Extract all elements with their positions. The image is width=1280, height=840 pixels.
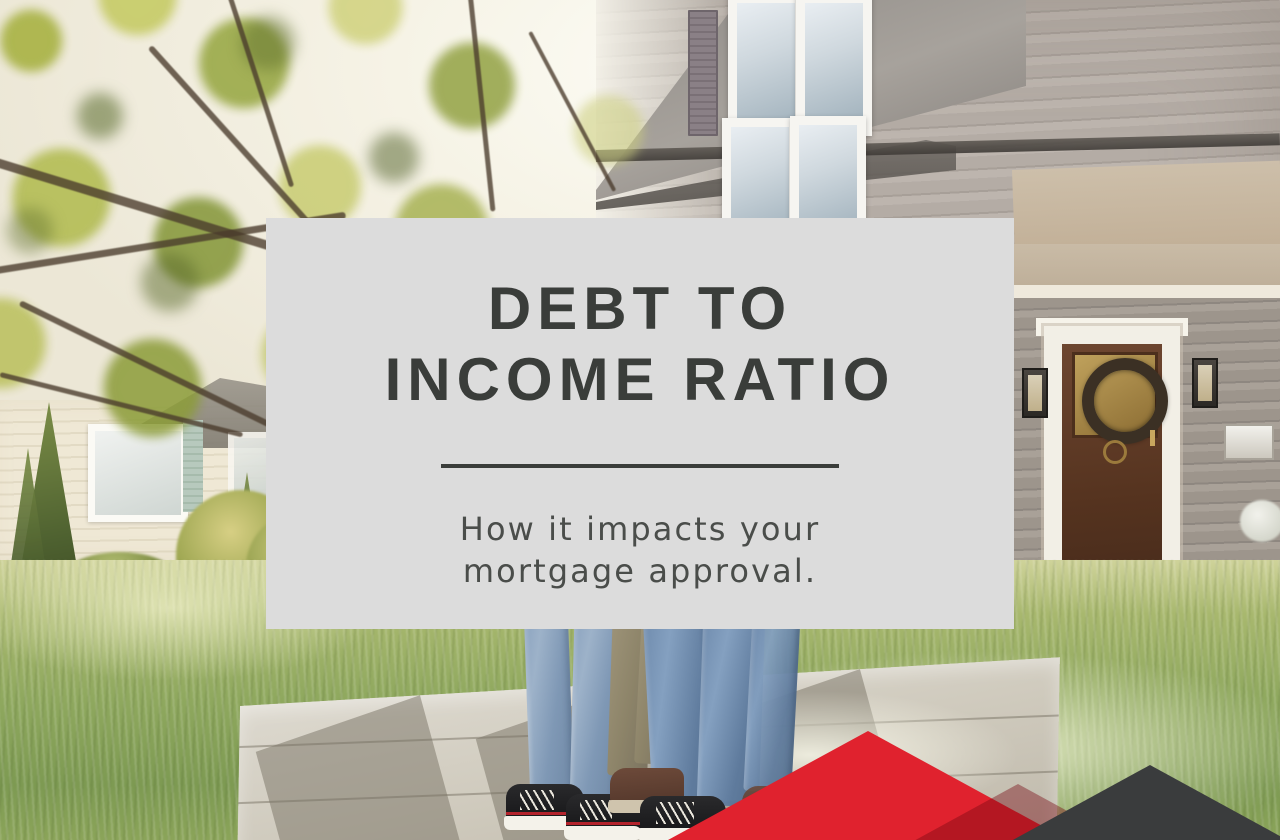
hero-banner: DEBT TO INCOME RATIO How it impacts your… — [0, 0, 1280, 840]
person-left-leg — [524, 615, 574, 792]
subtitle: How it impacts your mortgage approval. — [266, 508, 1014, 594]
wall-sconce-right — [1192, 358, 1218, 408]
door-handle — [1150, 430, 1155, 446]
dress-shoe-sole — [740, 812, 806, 824]
title-divider — [441, 464, 839, 468]
sneaker-red-stripe — [566, 822, 642, 825]
sneaker-sole — [638, 828, 726, 840]
door-knocker — [1103, 440, 1127, 464]
subtitle-line-2: mortgage approval. — [266, 550, 1014, 593]
sneaker-sole — [564, 826, 642, 840]
door-wreath — [1082, 358, 1168, 444]
porch-flower-pot — [1240, 500, 1280, 542]
subtitle-line-1: How it impacts your — [266, 508, 1014, 551]
mailbox — [1224, 424, 1274, 460]
headline-line-1: DEBT TO — [266, 274, 1014, 345]
headline-panel: DEBT TO INCOME RATIO How it impacts your… — [266, 218, 1014, 629]
paver-seam — [256, 695, 464, 840]
porch-trim — [1006, 285, 1280, 299]
shoe-laces — [520, 790, 554, 810]
headline-line-2: INCOME RATIO — [266, 345, 1014, 416]
shoe-laces — [656, 802, 694, 824]
wall-sconce-left — [1022, 368, 1048, 418]
page-title: DEBT TO INCOME RATIO — [266, 274, 1014, 416]
person-right-leg — [743, 611, 800, 793]
